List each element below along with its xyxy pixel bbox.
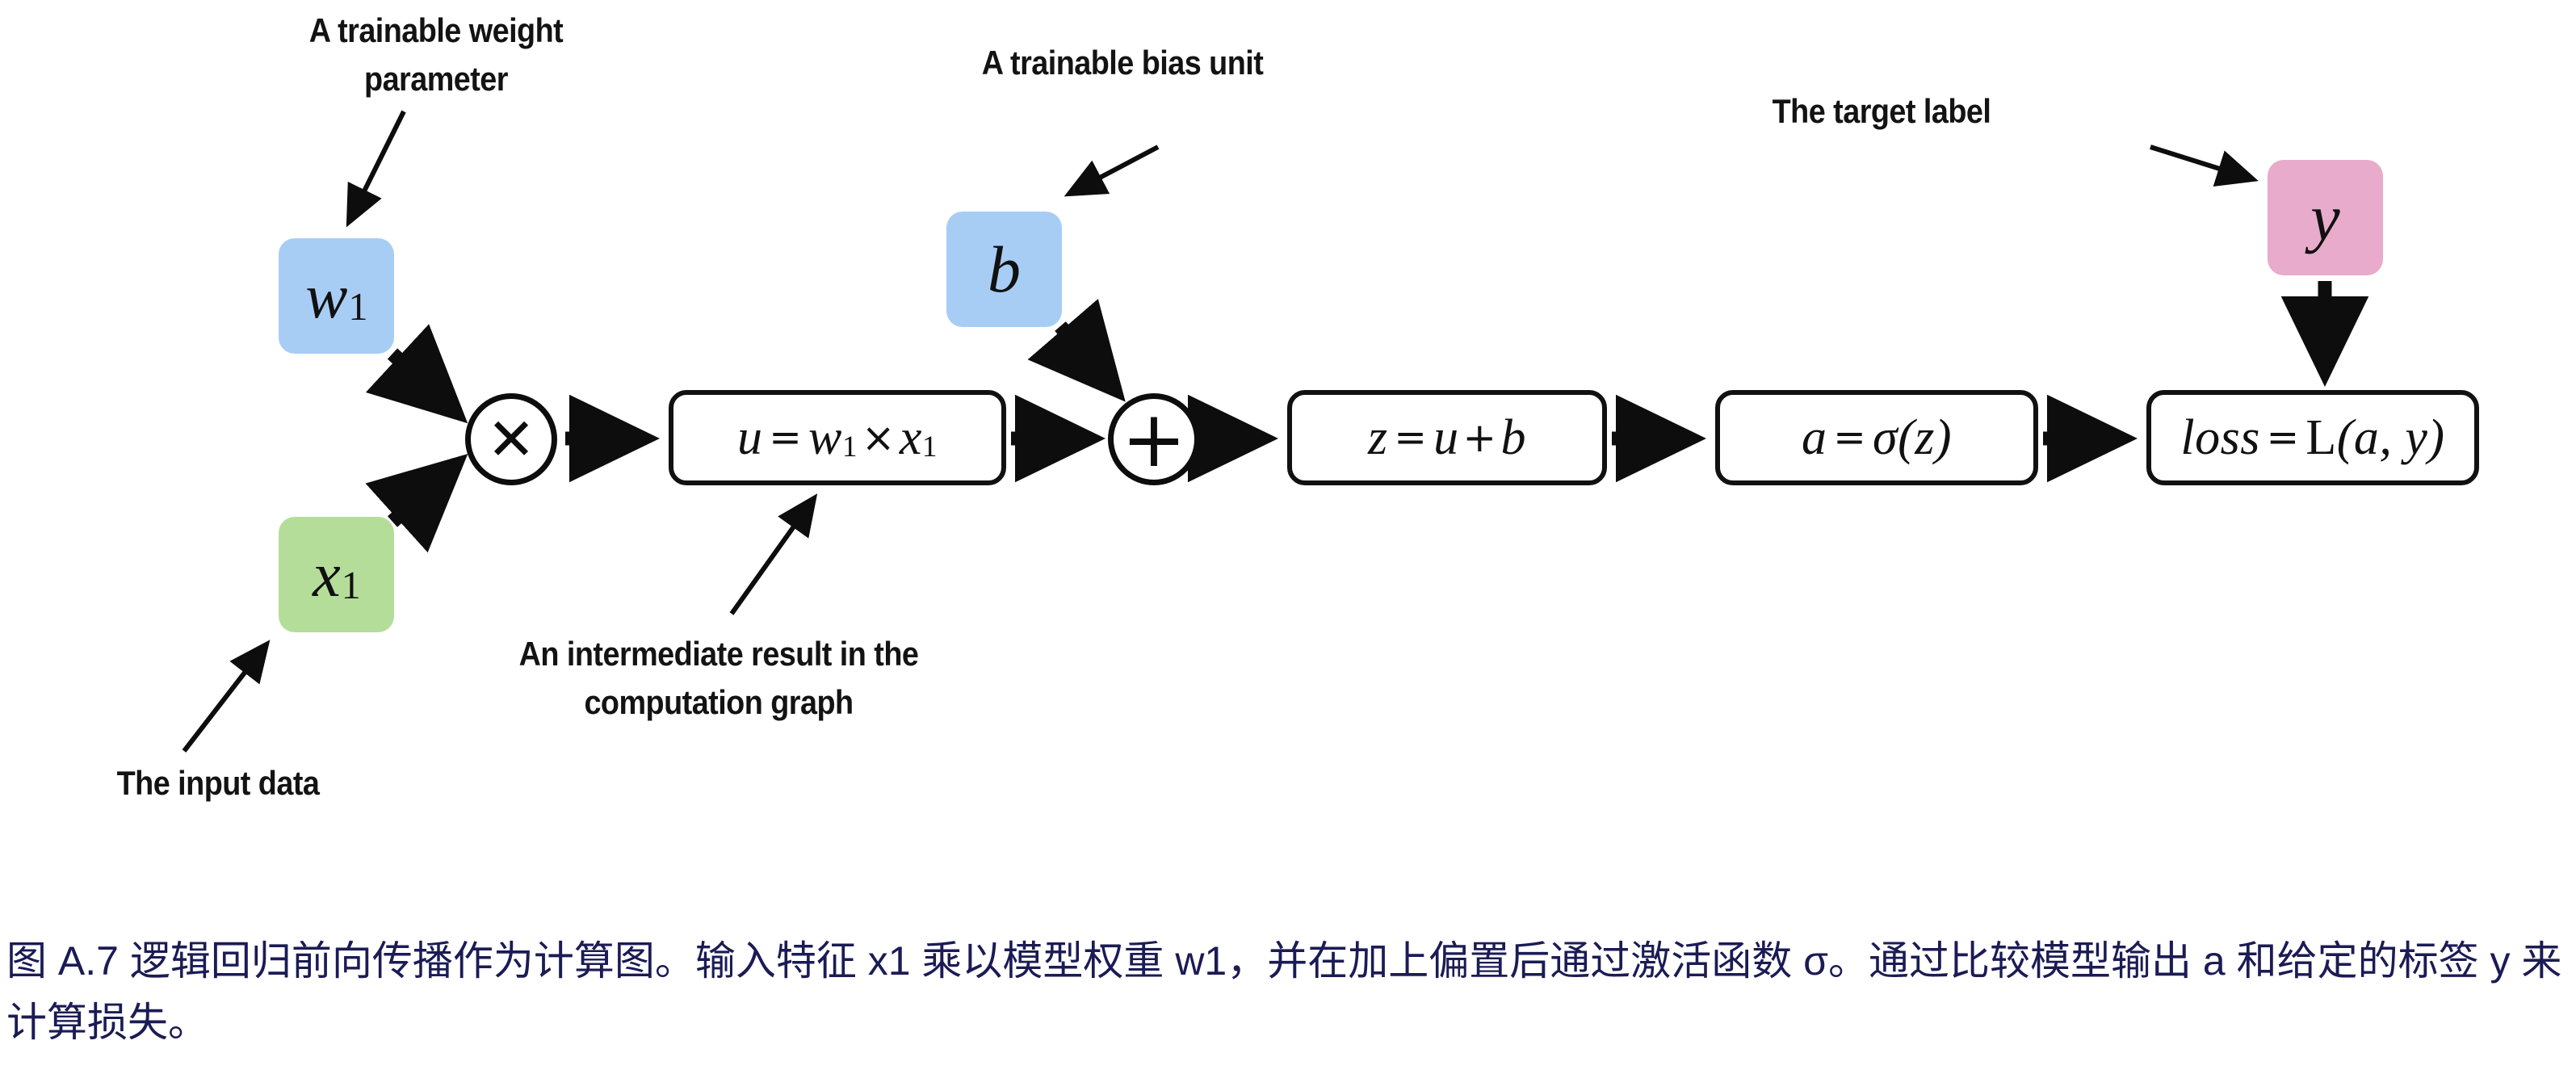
equation-box-a[interactable]: a=σ(z) (1715, 390, 2038, 485)
eq-a-arg: (z) (1898, 409, 1952, 467)
multiply-operator-node[interactable]: ✕ (465, 393, 557, 485)
add-operator-node[interactable]: + (1108, 393, 1200, 485)
eq-a-equals: = (1827, 415, 1873, 460)
node-x1-label: x (313, 543, 341, 606)
equation-box-loss[interactable]: loss=L(a, y) (2146, 390, 2479, 485)
eq-u-rhs-w-sub: 1 (842, 430, 858, 464)
leader-target-to-y (2150, 147, 2253, 179)
node-x1-subscript: 1 (342, 567, 361, 606)
node-w1-subscript: 1 (348, 288, 367, 327)
eq-z-rhs-b: b (1501, 409, 1527, 467)
eq-u-rhs-x: x (900, 409, 922, 467)
annotation-input-data: The input data (22, 759, 414, 808)
annotation-trainable-bias: A trainable bias unit (926, 39, 1319, 87)
equation-box-u[interactable]: u=w1×x1 (669, 390, 1006, 485)
leader-weight-to-w1 (349, 111, 404, 222)
eq-z-equals: = (1388, 415, 1434, 460)
leader-input-to-x1 (184, 644, 266, 751)
leader-intermediate-to-u (732, 498, 814, 614)
node-y-label: y (2310, 185, 2339, 251)
edge-w1-to-multiply (392, 354, 457, 413)
leader-bias-to-b (1069, 147, 1158, 194)
figure-canvas: w1 x1 b y ✕ + u=w1×x1 z=u+b a=σ(z) loss=… (0, 0, 2576, 1074)
multiply-icon: ✕ (471, 399, 552, 480)
eq-z-rhs-u: u (1433, 409, 1459, 467)
edge-x1-to-multiply (392, 464, 457, 522)
eq-u-rhs-x-sub: 1 (922, 430, 938, 464)
node-input-x1[interactable]: x1 (279, 517, 394, 632)
eq-u-equals: = (762, 415, 808, 460)
eq-u-lhs: u (737, 409, 763, 467)
equation-box-z[interactable]: z=u+b (1287, 390, 1607, 485)
eq-loss-arg: (a, y) (2337, 409, 2445, 467)
eq-loss-fn: L (2305, 409, 2336, 467)
node-target-y[interactable]: y (2268, 160, 2383, 275)
eq-a-lhs: a (1802, 409, 1827, 467)
eq-loss-lhs: loss (2180, 409, 2259, 467)
eq-a-sigma: σ (1873, 409, 1898, 467)
eq-z-lhs: z (1368, 409, 1388, 467)
eq-u-rhs-w: w (808, 409, 842, 467)
annotation-trainable-weight: A trainable weight parameter (240, 6, 632, 103)
plus-icon: + (1114, 399, 1194, 480)
eq-u-times-icon: × (858, 414, 900, 461)
node-b-label: b (988, 237, 1021, 303)
eq-z-plus-icon: + (1459, 414, 1501, 461)
node-weight-w1[interactable]: w1 (279, 238, 394, 354)
figure-caption: 图 A.7 逻辑回归前向传播作为计算图。输入特征 x1 乘以模型权重 w1，并在… (6, 930, 2573, 1053)
annotation-target-label: The target label (1685, 87, 2078, 136)
node-bias-b[interactable]: b (946, 212, 1062, 327)
node-w1-label: w (305, 265, 347, 328)
edge-b-to-add (1060, 326, 1116, 391)
annotation-intermediate-result: An intermediate result in the computatio… (464, 630, 973, 726)
eq-loss-equals: = (2260, 415, 2306, 460)
